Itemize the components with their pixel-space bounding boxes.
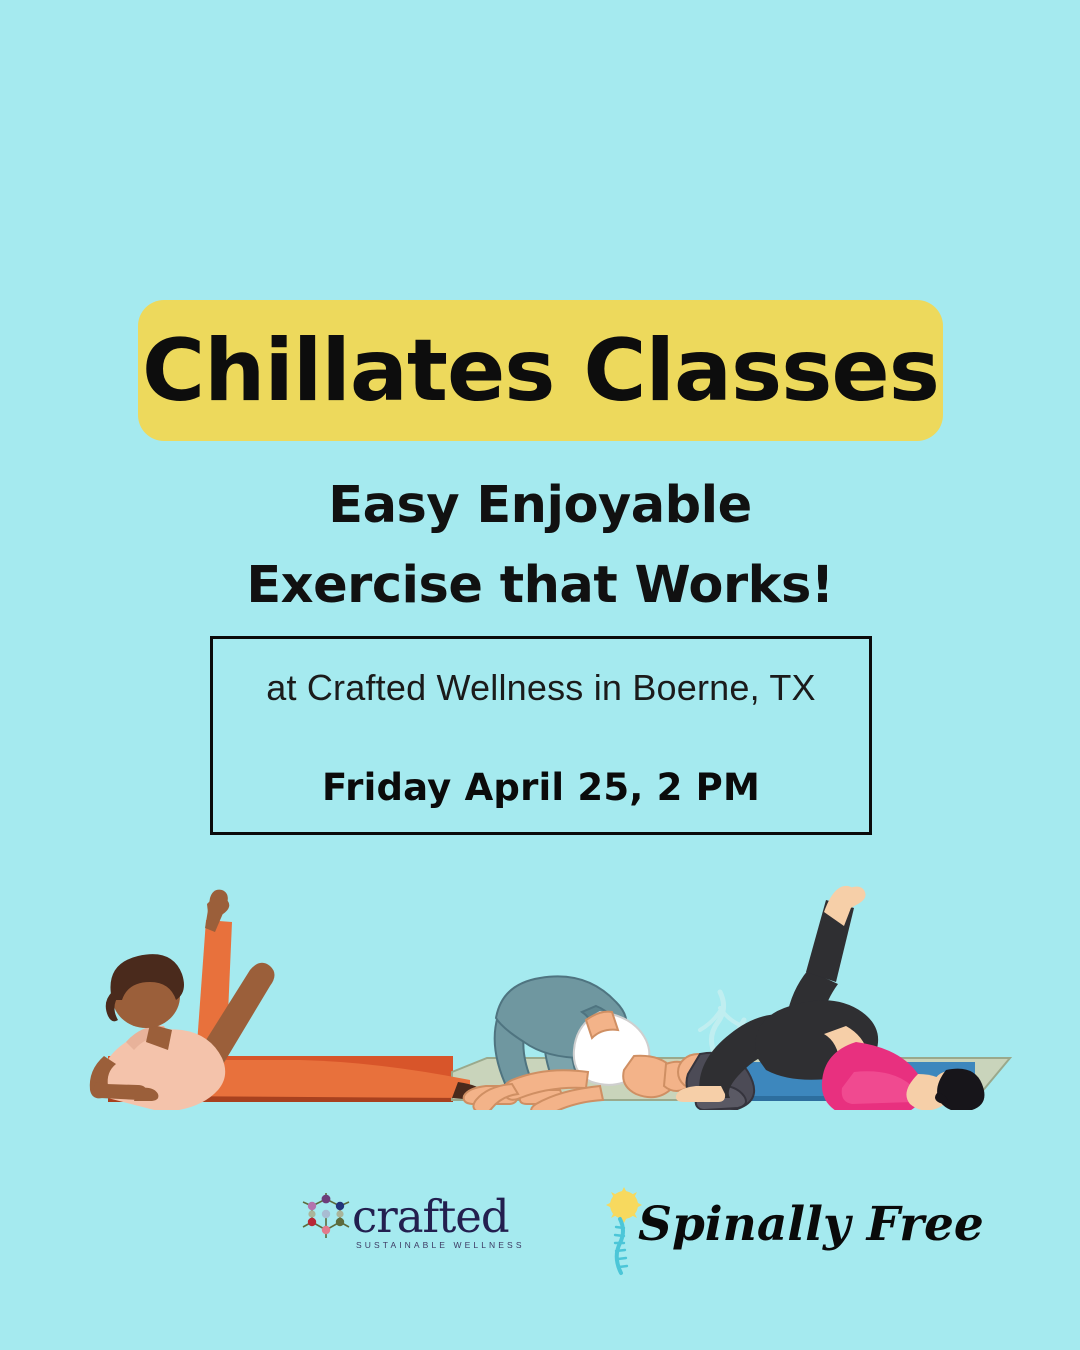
spinally-free-logo: Spinally Free [596,1185,866,1281]
poster-canvas: Chillates Classes Easy Enjoyable Exercis… [0,0,1080,1350]
subtitle-line-2: Exercise that Works! [0,546,1080,626]
sun-icon [606,1187,642,1223]
event-info-box: at Crafted Wellness in Boerne, TX Friday… [210,636,872,835]
page-title: Chillates Classes [142,328,939,414]
figure-left [90,890,485,1110]
title-banner: Chillates Classes [138,300,943,441]
crafted-logo: crafted SUSTAINABLE WELLNESS [296,1190,496,1262]
spine-icon [615,1219,627,1273]
crafted-tagline: SUSTAINABLE WELLNESS [356,1240,525,1250]
spinally-free-wordmark: Spinally Free [638,1201,984,1248]
event-datetime: Friday April 25, 2 PM [213,766,869,809]
molecule-icon [296,1192,356,1252]
subtitle-line-1: Easy Enjoyable [0,466,1080,546]
logo-row: crafted SUSTAINABLE WELLNESS [0,1185,1080,1285]
event-venue: at Crafted Wellness in Boerne, TX [213,667,869,709]
subtitle: Easy Enjoyable Exercise that Works! [0,466,1080,626]
crafted-wordmark: crafted [352,1194,509,1239]
exercise-illustration [0,860,1080,1110]
